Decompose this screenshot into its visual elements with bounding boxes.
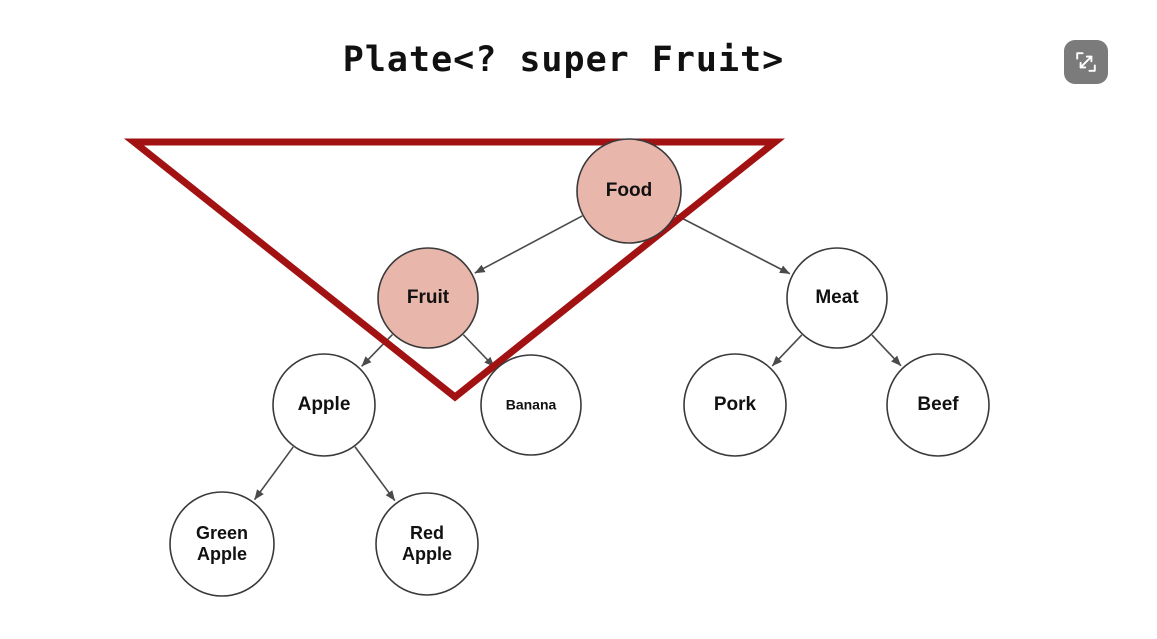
edges-layer (255, 215, 901, 500)
diagram-canvas: Plate<? super Fruit> FoodFruitMeatAppleB… (0, 0, 1157, 639)
node-beef[interactable] (887, 354, 989, 456)
edge-apple-to-green-apple (255, 447, 294, 500)
node-green-apple[interactable] (170, 492, 274, 596)
node-banana[interactable] (481, 355, 581, 455)
tree-graph (0, 0, 1157, 639)
node-pork[interactable] (684, 354, 786, 456)
edge-meat-to-beef (872, 335, 901, 366)
edge-food-to-meat (676, 215, 790, 274)
edge-apple-to-red-apple (355, 447, 395, 501)
node-apple[interactable] (273, 354, 375, 456)
node-fruit[interactable] (378, 248, 478, 348)
edge-meat-to-pork (772, 335, 802, 366)
node-food[interactable] (577, 139, 681, 243)
edge-food-to-fruit (475, 216, 582, 273)
edge-fruit-to-banana (463, 335, 494, 367)
nodes-layer (170, 139, 989, 596)
node-red-apple[interactable] (376, 493, 478, 595)
node-meat[interactable] (787, 248, 887, 348)
